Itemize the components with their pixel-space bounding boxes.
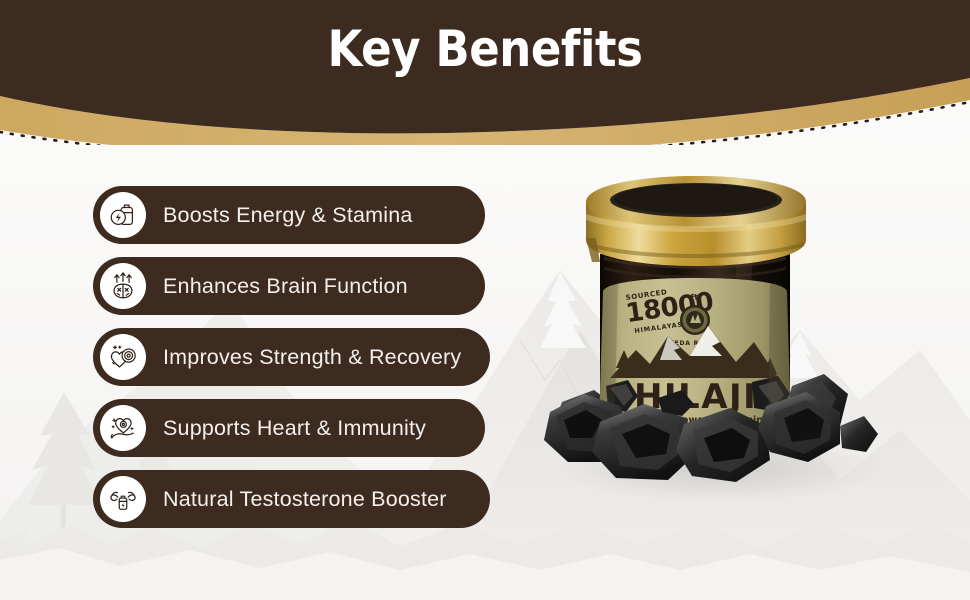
benefit-label: Improves Strength & Recovery [163,345,461,370]
benefit-item-brain-function[interactable]: Enhances Brain Function [93,257,485,315]
jar-lid [586,176,806,266]
header: Key Benefits [0,0,970,140]
benefits-list: Boosts Energy & Stamina Enhances Brain F… [93,186,493,541]
benefit-label: Supports Heart & Immunity [163,416,426,441]
flex-arms-battery-icon [100,476,146,522]
brain-arrows-icon [100,263,146,309]
benefit-item-strength-recovery[interactable]: Improves Strength & Recovery [93,328,490,386]
benefit-item-testosterone-booster[interactable]: Natural Testosterone Booster [93,470,490,528]
benefit-item-boosts-energy[interactable]: Boosts Energy & Stamina [93,186,485,244]
hand-heart-icon [100,405,146,451]
heart-target-icon [100,334,146,380]
benefit-item-heart-immunity[interactable]: Supports Heart & Immunity [93,399,485,457]
battery-bolt-icon [100,192,146,238]
benefit-label: Boosts Energy & Stamina [163,203,413,228]
product-image: SOURCED 18000 ft HIMALAYAS VEDA ROOTS [540,150,940,570]
benefit-label: Natural Testosterone Booster [163,487,447,512]
poster-canvas: Key Benefits Boosts Energy & Stamina [0,0,970,600]
benefit-label: Enhances Brain Function [163,274,408,299]
page-title: Key Benefits [49,22,922,77]
